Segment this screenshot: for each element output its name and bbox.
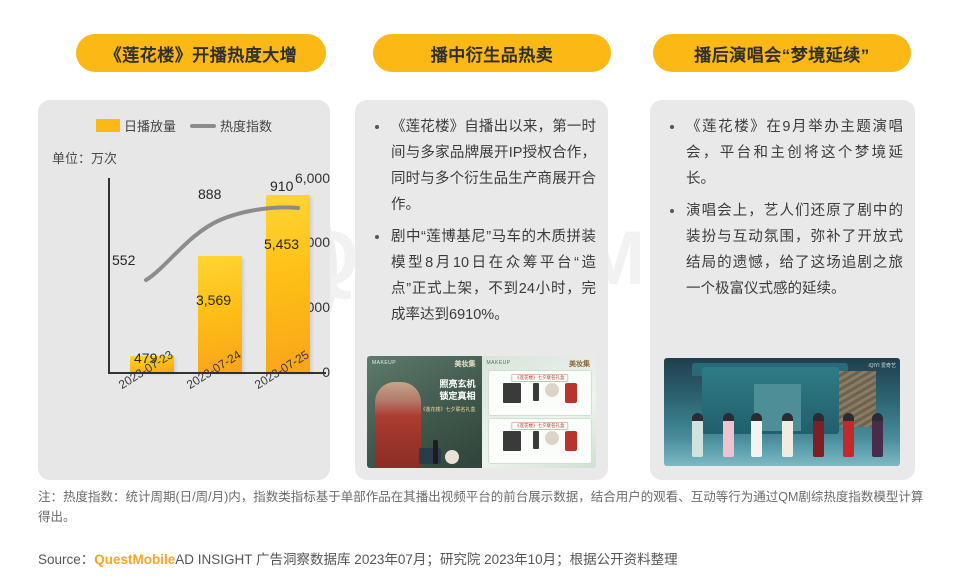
ad-headline: 照亮玄机 锁定真相 bbox=[439, 378, 475, 402]
line-value-label-2: 888 bbox=[198, 186, 221, 202]
line-value-label-3: 910 bbox=[270, 178, 293, 194]
performer-2 bbox=[723, 413, 734, 457]
section-header-pill-1: 《莲花楼》开播热度大增 bbox=[76, 34, 326, 72]
line-value-label-1: 552 bbox=[112, 252, 135, 268]
mid-bullet-list: 《莲花楼》自播出以来，第一时间与多家品牌展开IP授权合作，同时与多个衍生品生产商… bbox=[371, 114, 596, 334]
performer-3 bbox=[751, 413, 762, 457]
concert-stage-image: iQIYI 爱奇艺 bbox=[664, 358, 900, 466]
legend-line-label: 热度指数 bbox=[220, 116, 272, 135]
ad-giftbox-card-1: 《莲花楼》七夕联名礼盒 bbox=[488, 370, 593, 416]
ad-card-item-h bbox=[565, 431, 577, 451]
legend-bar-label: 日播放量 bbox=[124, 116, 176, 135]
performer-5 bbox=[813, 413, 824, 457]
ad-card-item-f bbox=[533, 431, 539, 449]
legend-line-swatch-icon bbox=[190, 124, 216, 128]
performer-1 bbox=[692, 413, 703, 457]
ad-left-half: MAKEUP 美妆集 照亮玄机 锁定真相 《莲花楼》七夕联名礼盒 bbox=[367, 356, 482, 468]
ad-brand-cn-label: 美妆集 bbox=[455, 359, 476, 369]
stage-background: iQIYI 爱奇艺 bbox=[664, 358, 900, 466]
source-prefix: Source： bbox=[38, 552, 94, 567]
ad-card-item-e bbox=[503, 431, 521, 451]
ad-model-figure bbox=[375, 382, 421, 468]
legend-item-line: 热度指数 bbox=[190, 116, 272, 135]
derivative-products-panel: 《莲花楼》自播出以来，第一时间与多家品牌展开IP授权合作，同时与多个衍生品生产商… bbox=[355, 100, 608, 480]
legend-bar-swatch-icon bbox=[96, 119, 120, 132]
performer-6 bbox=[843, 413, 854, 457]
ad-subline: 《莲花楼》七夕联名礼盒 bbox=[420, 406, 475, 413]
list-item: 《莲花楼》自播出以来，第一时间与多家品牌展开IP授权合作，同时与多个衍生品生产商… bbox=[371, 114, 596, 218]
section-header-pill-2: 播中衍生品热卖 bbox=[373, 34, 611, 72]
list-item: 剧中“莲博基尼”马车的木质拼装模型8月10日在众筹平台“造点”正式上架，不到24… bbox=[371, 224, 596, 328]
channel-watermark: iQIYI 爱奇艺 bbox=[868, 362, 896, 369]
ad-card-item-b bbox=[533, 383, 539, 401]
ad-giftbox-card-2: 《莲花楼》七夕联名礼盒 bbox=[488, 418, 593, 464]
derivative-products-ad-image: MAKEUP 美妆集 照亮玄机 锁定真相 《莲花楼》七夕联名礼盒 MAKEUP … bbox=[367, 356, 596, 468]
source-brand: QuestMobile bbox=[94, 552, 175, 567]
source-line: Source：QuestMobileAD INSIGHT 广告洞察数据库 202… bbox=[38, 548, 678, 568]
ad-product-cushion bbox=[445, 450, 459, 464]
ad-card-caption-2: 《莲花楼》七夕联名礼盒 bbox=[511, 422, 569, 430]
footer-divider bbox=[0, 534, 960, 535]
chart-panel: 日播放量 热度指数 单位：万次 6,000 4,000 2,000 0 479 … bbox=[38, 100, 330, 480]
concert-panel: 《莲花楼》在9月举办主题演唱会，平台和主创将这个梦境延长。 演唱会上，艺人们还原… bbox=[650, 100, 915, 480]
chart-plot-area: 6,000 4,000 2,000 0 479 3,569 5,453 552 … bbox=[38, 172, 330, 410]
list-item: 演唱会上，艺人们还原了剧中的装扮与互动氛围，弥补了开放式结局的遗憾，给了这场追剧… bbox=[666, 198, 903, 302]
ad-card-caption-1: 《莲花楼》七夕联名礼盒 bbox=[511, 374, 569, 382]
ad-brand-label-2: MAKEUP bbox=[487, 360, 511, 366]
chart-legend: 日播放量 热度指数 bbox=[38, 116, 330, 135]
footnote-text: 注：热度指数：统计周期(日/周/月)内，指数类指标基于单部作品在其播出视频平台的… bbox=[38, 487, 928, 527]
ad-right-half: MAKEUP 美妆集 《莲花楼》七夕联名礼盒 《莲花楼》七夕联名礼盒 bbox=[482, 356, 597, 468]
ad-product-lipstick bbox=[433, 440, 438, 464]
ad-card-item-c bbox=[545, 383, 559, 397]
legend-item-bar: 日播放量 bbox=[96, 116, 176, 135]
ad-card-item-a bbox=[503, 383, 521, 403]
ad-brand-cn-label-2: 美妆集 bbox=[569, 359, 590, 369]
section-header-pill-3: 播后演唱会“梦境延续” bbox=[653, 34, 911, 72]
ad-card-item-d bbox=[565, 383, 577, 403]
ad-card-item-g bbox=[545, 431, 559, 445]
list-item: 《莲花楼》在9月举办主题演唱会，平台和主创将这个梦境延长。 bbox=[666, 114, 903, 192]
performer-4 bbox=[782, 413, 793, 457]
ad-brand-label: MAKEUP bbox=[372, 360, 396, 366]
performer-7 bbox=[872, 413, 883, 457]
chart-unit-label: 单位：万次 bbox=[52, 148, 117, 167]
source-rest: AD INSIGHT 广告洞察数据库 2023年07月；研究院 2023年10月… bbox=[175, 552, 677, 567]
right-bullet-list: 《莲花楼》在9月举办主题演唱会，平台和主创将这个梦境延长。 演唱会上，艺人们还原… bbox=[666, 114, 903, 308]
